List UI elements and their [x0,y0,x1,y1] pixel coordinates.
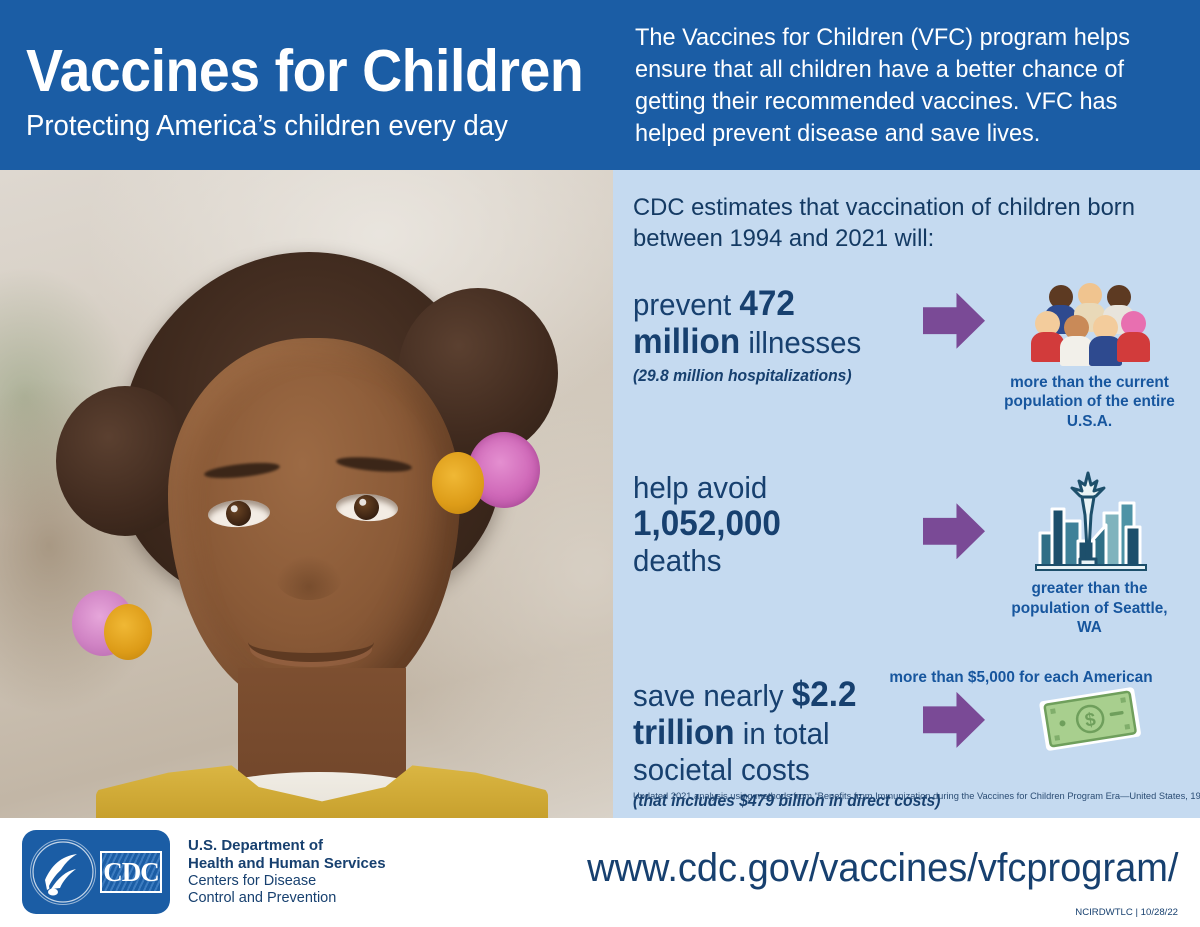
stats-panel: CDC estimates that vaccination of childr… [613,170,1200,818]
person-front-1 [1035,311,1060,336]
stat-prefix: prevent [633,287,739,322]
icon-caption-money: more than $5,000 for each American [863,668,1180,688]
icon-col-money: $ [997,674,1182,766]
gold-flower-clip-left [104,604,152,660]
iris-right [353,494,379,520]
stat-line-1: save nearly $2.2 [633,676,897,715]
stat-suffix: in total [735,716,830,751]
website-url[interactable]: www.cdc.gov/vaccines/vfcprogram/ [587,846,1178,891]
caption-line-2: population of the entire U.S.A. [1004,393,1175,430]
stat-unit: trillion [633,713,735,752]
stat-line-2: trillion in total [633,714,897,753]
panel-intro-text: CDC estimates that vaccination of childr… [633,192,1166,255]
stat-note-illnesses: (29.8 million hospitalizations) [633,367,897,386]
gold-flower-clip-right [432,452,484,514]
nose [276,556,342,600]
stat-line-2: million illnesses [633,323,897,362]
smile [248,622,374,662]
agency-line-1: U.S. Department of [188,837,386,855]
icon-caption-people: more than the current population of the … [1001,373,1179,432]
caption-line-1: more than the current [1010,374,1169,391]
group-of-people-icon [1031,283,1149,367]
caption-line-2: population of Seattle, WA [1011,600,1167,637]
hhs-seal-icon [30,839,96,905]
stat-line-2: 1,052,000 [633,505,897,544]
cdc-text: CDC [103,857,159,888]
person-body [1060,336,1093,366]
right-arrow-icon [923,692,985,748]
stat-number: 472 [739,284,794,323]
stat-suffix: illnesses [740,325,861,360]
person-back-1 [1049,285,1073,309]
seattle-skyline-icon [1030,469,1150,573]
arrow-wrap-2 [911,469,997,559]
logo-badge: CDC [22,830,170,914]
stat-line-1: help avoid [633,471,897,505]
iris-left [225,500,251,526]
person-body [1031,332,1064,362]
header-description-area: The Vaccines for Children (VFC) program … [613,0,1200,170]
header-title-area: Vaccines for Children Protecting America… [0,0,613,170]
panel-footnote: Updated 2021 analysis using methods from… [633,791,1172,802]
header-paragraph: The Vaccines for Children (VFC) program … [635,22,1149,149]
page-title: Vaccines for Children [26,43,578,101]
stat-number: 1,052,000 [633,504,781,543]
stat-line-3: societal costs [633,753,897,787]
agency-name: U.S. Department of Health and Human Serv… [188,837,386,907]
arrow-wrap-1 [911,283,997,349]
footer: CDC U.S. Department of Health and Human … [0,818,1200,927]
person-back-2 [1078,283,1102,307]
caption-line-1: greater than the [1031,580,1147,597]
person-front-4 [1121,311,1146,336]
stat-line-1: prevent 472 [633,285,897,324]
stat-text-deaths: help avoid 1,052,000 deaths [633,469,911,578]
person-front-2 [1064,315,1089,340]
infographic-poster: Vaccines for Children Protecting America… [0,0,1200,927]
icon-col-people: more than the current population of the … [997,283,1182,432]
right-arrow-icon [923,503,985,559]
publication-code: NCIRDWTLC | 10/28/22 [1075,907,1178,918]
person-body [1117,332,1150,362]
person-back-3 [1107,285,1131,309]
right-arrow-icon [923,293,985,349]
page-subtitle: Protecting America’s children every day [26,111,584,141]
dollar-bill-icon: $ [1028,674,1152,766]
stat-text-illnesses: prevent 472 million illnesses (29.8 mill… [633,283,911,386]
child-photo [0,170,613,818]
stat-unit: million [633,322,740,361]
cdc-logo-block[interactable]: CDC U.S. Department of Health and Human … [22,830,386,914]
person-front-3 [1093,315,1118,340]
agency-line-2: Health and Human Services [188,855,386,873]
icon-caption-seattle: greater than the population of Seattle, … [1001,579,1179,638]
caption-line-1: more than $5,000 for each American [889,669,1152,686]
stat-row-illnesses: prevent 472 million illnesses (29.8 mill… [633,283,1182,432]
stat-prefix: save nearly [633,678,792,713]
stat-number: $2.2 [792,675,857,714]
cdc-wordmark: CDC [100,851,162,893]
hhs-eagle-icon [31,840,95,904]
agency-line-3: Centers for Disease [188,873,386,890]
header-band: Vaccines for Children Protecting America… [0,0,1200,170]
agency-line-4: Control and Prevention [188,890,386,907]
stat-line-3: deaths [633,544,897,578]
icon-col-seattle: greater than the population of Seattle, … [997,469,1182,638]
stat-row-deaths: help avoid 1,052,000 deaths [633,469,1182,638]
